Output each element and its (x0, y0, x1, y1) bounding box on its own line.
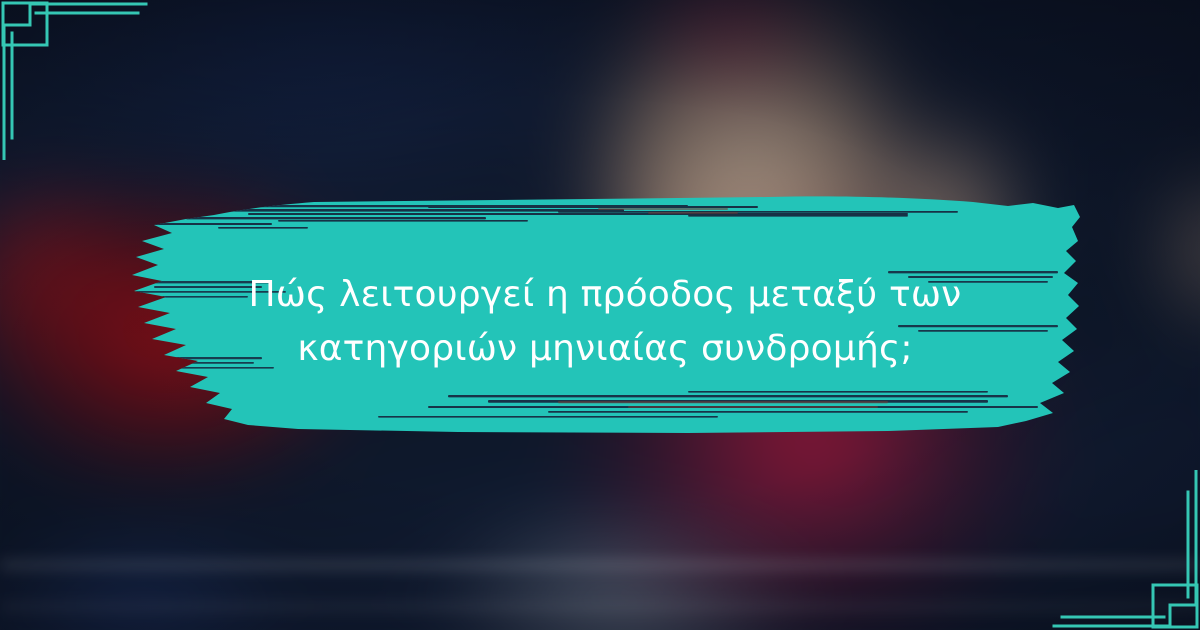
corner-bracket-icon (0, 0, 200, 160)
corner-frame-top-left (0, 0, 200, 160)
corner-bracket-icon (1000, 470, 1200, 630)
share-card: Πώς λειτουργεί η πρόοδος μεταξύ των κατη… (0, 0, 1200, 630)
page-title: Πώς λειτουργεί η πρόοδος μεταξύ των κατη… (160, 268, 1050, 376)
corner-frame-bottom-right (1000, 470, 1200, 630)
